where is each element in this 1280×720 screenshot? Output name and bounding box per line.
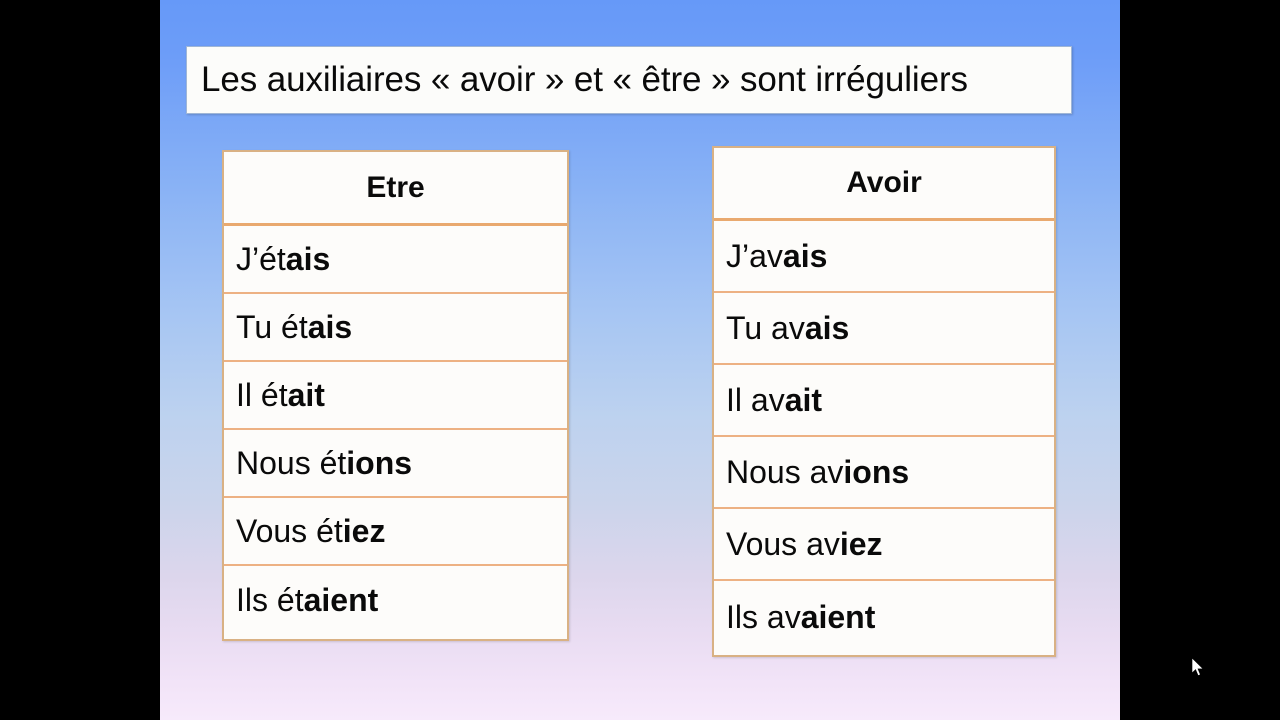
mouse-pointer-icon (1192, 658, 1206, 678)
conjugation-table-avoir: Avoir J’avais Tu avais Il avait Nous avi… (712, 146, 1056, 657)
table-header-etre: Etre (224, 152, 567, 226)
row-ending: aient (304, 582, 379, 619)
letterbox-left (0, 0, 160, 720)
table-row: Il était (224, 362, 567, 430)
title-banner: Les auxiliaires « avoir » et « être » so… (186, 46, 1072, 114)
table-row: Nous étions (224, 430, 567, 498)
table-row: Nous avions (714, 437, 1054, 509)
row-stem: J’ét (236, 241, 286, 278)
table-body-avoir: J’avais Tu avais Il avait Nous avions Vo… (714, 221, 1054, 653)
row-stem: Ils ét (236, 582, 304, 619)
row-ending: ais (805, 310, 849, 347)
row-stem: Nous av (726, 454, 843, 491)
row-stem: Il av (726, 382, 785, 419)
row-stem: Ils av (726, 599, 801, 636)
row-ending: iez (840, 526, 883, 563)
row-ending: ions (346, 445, 412, 482)
row-ending: ais (783, 238, 827, 275)
screen: Les auxiliaires « avoir » et « être » so… (0, 0, 1280, 720)
row-stem: Vous ét (236, 513, 343, 550)
table-body-etre: J’étais Tu étais Il était Nous étions Vo… (224, 226, 567, 634)
row-stem: Vous av (726, 526, 840, 563)
page-title: Les auxiliaires « avoir » et « être » so… (201, 60, 968, 100)
row-stem: J’av (726, 238, 783, 275)
row-ending: ais (308, 309, 352, 346)
slide-canvas: Les auxiliaires « avoir » et « être » so… (160, 0, 1120, 720)
table-row: Tu étais (224, 294, 567, 362)
table-header-avoir: Avoir (714, 148, 1054, 221)
letterbox-right (1120, 0, 1280, 720)
table-row: Il avait (714, 365, 1054, 437)
table-row: J’avais (714, 221, 1054, 293)
row-stem: Tu av (726, 310, 805, 347)
row-ending: ait (288, 377, 325, 414)
table-row: Tu avais (714, 293, 1054, 365)
table-row: Ils étaient (224, 566, 567, 634)
row-stem: Nous ét (236, 445, 346, 482)
row-ending: ions (843, 454, 909, 491)
row-ending: iez (343, 513, 386, 550)
table-row: Ils avaient (714, 581, 1054, 653)
row-stem: Il ét (236, 377, 288, 414)
table-row: J’étais (224, 226, 567, 294)
row-ending: aient (801, 599, 876, 636)
row-ending: ais (286, 241, 330, 278)
conjugation-table-etre: Etre J’étais Tu étais Il était Nous étio… (222, 150, 569, 641)
table-row: Vous aviez (714, 509, 1054, 581)
table-row: Vous étiez (224, 498, 567, 566)
row-ending: ait (785, 382, 822, 419)
row-stem: Tu ét (236, 309, 308, 346)
